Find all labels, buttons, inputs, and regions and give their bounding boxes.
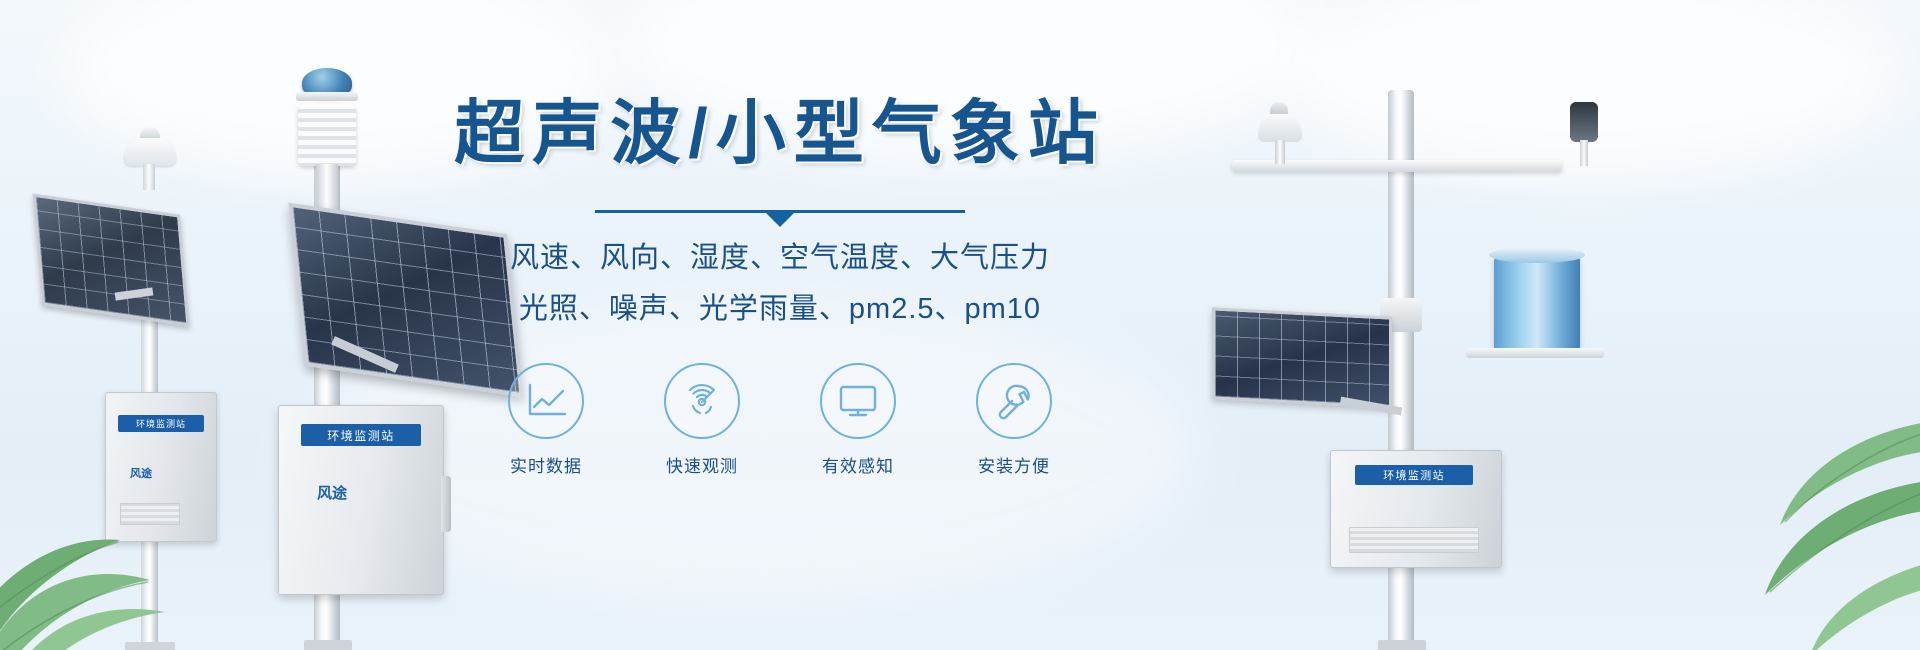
monitor-icon — [820, 363, 896, 439]
radiation-shield-sensor — [124, 136, 176, 166]
solar-panel — [1212, 307, 1392, 408]
controller-enclosure: 环境监测站 — [1330, 450, 1502, 568]
feature-label: 实时数据 — [510, 452, 582, 477]
wrench-icon — [976, 363, 1052, 439]
title-divider — [595, 210, 965, 213]
radiation-shield-stack — [298, 104, 356, 166]
radar-signal-icon — [664, 363, 740, 439]
weather-station-left: 环境监测站 风途 — [95, 130, 295, 650]
feature-label: 有效感知 — [822, 452, 894, 477]
weather-station-right: 环境监测站 — [1220, 50, 1620, 650]
station-foot — [125, 642, 175, 650]
feature-item-easy-installation[interactable]: 安装方便 — [968, 363, 1060, 477]
controller-enclosure: 环境监测站 风途 — [105, 392, 217, 542]
feature-label: 安装方便 — [978, 452, 1050, 477]
product-banner: 环境监测站 风途 环境监测站 风途 环境监测站 — [0, 0, 1920, 650]
subtitle-line-2: 光照、噪声、光学雨量、pm2.5、pm10 — [430, 286, 1130, 333]
wind-vane-sensor — [1570, 102, 1598, 142]
page-title: 超声波/小型气象站 — [430, 96, 1130, 172]
solar-panel — [32, 194, 189, 327]
feature-list: 实时数据 快速观测 — [430, 363, 1130, 477]
feature-item-effective-sensing[interactable]: 有效感知 — [812, 363, 904, 477]
station-foot — [304, 640, 352, 650]
leaf-decor-right — [1610, 360, 1920, 650]
line-chart-icon — [508, 363, 584, 439]
feature-label: 快速观测 — [666, 452, 738, 477]
feature-item-fast-observation[interactable]: 快速观测 — [656, 363, 748, 477]
enclosure-tag-label: 环境监测站 — [1355, 465, 1473, 485]
subtitle-line-1: 风速、风向、湿度、空气温度、大气压力 — [430, 235, 1130, 282]
controller-enclosure: 环境监测站 风途 — [278, 405, 444, 595]
enclosure-vent — [120, 503, 180, 525]
ultrasonic-dome-sensor — [302, 68, 352, 98]
sensor-stem — [1275, 140, 1285, 164]
sensor-neck — [316, 164, 338, 212]
enclosure-tag-label: 环境监测站 — [301, 424, 421, 446]
station-foot — [1378, 640, 1426, 650]
brand-logo-label: 风途 — [317, 482, 347, 503]
feature-item-realtime-data[interactable]: 实时数据 — [500, 363, 592, 477]
sensor-shelf — [1466, 348, 1604, 358]
radiation-shield-sensor — [1258, 112, 1302, 142]
sensor-stem — [143, 164, 155, 190]
enclosure-door-edge — [441, 476, 451, 532]
brand-logo-label: 风途 — [130, 465, 152, 481]
enclosure-vent — [1349, 527, 1479, 553]
rain-gauge-sensor — [1494, 255, 1580, 351]
banner-content: 超声波/小型气象站 风速、风向、湿度、空气温度、大气压力 光照、噪声、光学雨量、… — [430, 96, 1130, 477]
enclosure-tag-label: 环境监测站 — [118, 415, 204, 432]
